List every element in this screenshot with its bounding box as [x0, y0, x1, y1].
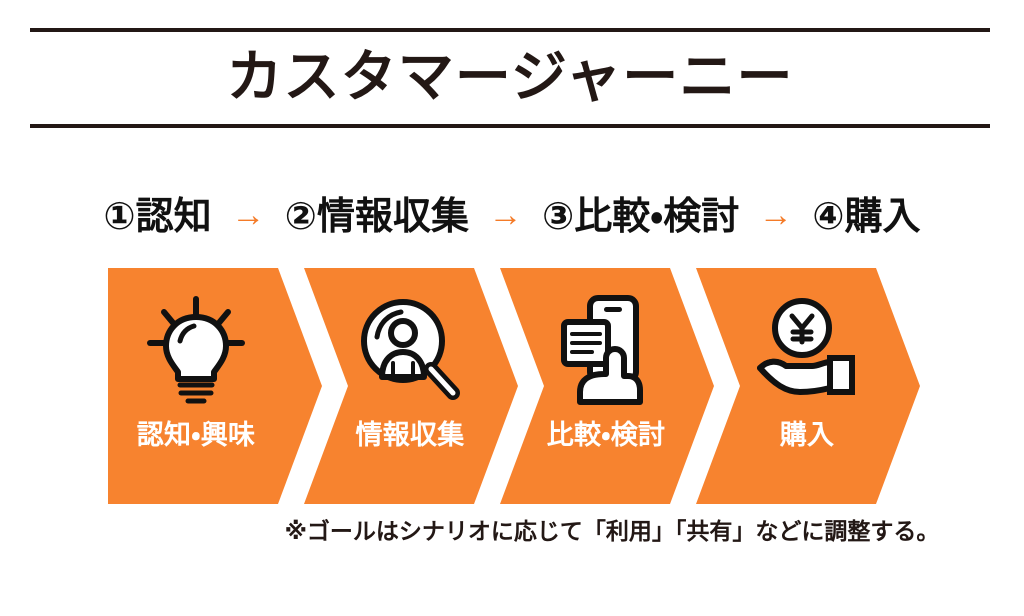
journey-stage-awareness[interactable]: 認知・興味: [108, 268, 322, 504]
step-sequence-line: ①認知 → ②情報収集 → ③比較・検討 → ④購入: [0, 196, 1024, 239]
step-label-3: ③比較・検討: [542, 197, 739, 239]
step-label-2: ②情報収集: [285, 197, 469, 239]
journey-stage-content: 比較・検討: [536, 268, 676, 504]
journey-chevron-band: 認知・興味 情報収集: [108, 268, 920, 504]
title-block: カスタマージャーニー: [30, 28, 990, 128]
arrow-right-icon: →: [222, 197, 274, 234]
journey-stage-content: 情報収集: [340, 268, 480, 504]
hand-smartphone-icon: [556, 290, 656, 410]
magnifier-person-icon: [357, 290, 463, 410]
journey-stage-comparison[interactable]: 比較・検討: [500, 268, 714, 504]
step-label-1: ①認知: [103, 197, 211, 239]
journey-stage-purchase[interactable]: 購入: [696, 268, 920, 504]
journey-stage-label: 情報収集: [355, 422, 464, 449]
footnote-text: ※ゴールはシナリオに応じて「利用」「共有」などに調整する。: [0, 512, 1024, 546]
journey-stage-content: 認知・興味: [108, 268, 284, 504]
arrow-right-icon: →: [750, 197, 802, 234]
step-label-4: ④購入: [812, 197, 920, 239]
journey-stage-information[interactable]: 情報収集: [304, 268, 518, 504]
journey-stage-label: 比較・検討: [547, 422, 666, 449]
journey-stage-label: 認知・興味: [137, 422, 256, 449]
hand-yen-coin-icon: [752, 290, 862, 410]
journey-stage-label: 購入: [780, 422, 835, 449]
arrow-right-icon: →: [480, 197, 532, 234]
page-title: カスタマージャーニー: [30, 32, 990, 124]
lightbulb-icon: [144, 290, 248, 410]
journey-stage-content: 購入: [732, 268, 882, 504]
title-rule-bottom: [30, 124, 990, 128]
